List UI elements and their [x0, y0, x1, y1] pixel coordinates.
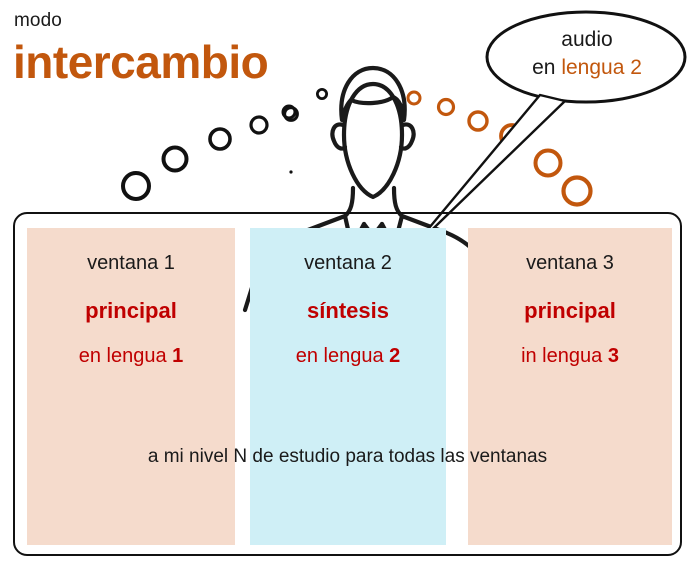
- window-column-2[interactable]: ventana 2 síntesis en lengua 2: [250, 228, 446, 545]
- window-language-prefix-2: en lengua: [296, 345, 389, 367]
- window-role-2: síntesis: [250, 300, 446, 322]
- window-column-1[interactable]: ventana 1 principal en lengua 1: [27, 228, 235, 545]
- window-label-1: ventana 1: [27, 253, 235, 273]
- window-language-2: en lengua 2: [250, 346, 446, 366]
- window-column-3[interactable]: ventana 3 principal in lengua 3: [468, 228, 672, 545]
- black-circles-icon: [123, 106, 295, 199]
- speech-bubble-line-2: en lengua 2: [500, 54, 674, 82]
- window-language-prefix-1: en lengua: [79, 345, 172, 367]
- header-kicker: modo: [14, 11, 62, 30]
- black-circles-small-icon: [285, 89, 327, 120]
- footer-note: a mi nivel N de estudio para todas las v…: [0, 447, 695, 466]
- page-title: intercambio: [13, 39, 268, 85]
- window-role-1: principal: [27, 300, 235, 322]
- orange-circles-icon: [408, 92, 591, 205]
- window-label-2: ventana 2: [250, 253, 446, 273]
- window-language-3: in lengua 3: [468, 346, 672, 366]
- window-label-3: ventana 3: [468, 253, 672, 273]
- window-language-number-2: 2: [389, 345, 400, 367]
- window-language-1: en lengua 1: [27, 346, 235, 366]
- window-language-number-3: 3: [608, 345, 619, 367]
- speech-bubble-line-1: audio: [500, 26, 674, 54]
- speech-bubble-line-2-prefix: en: [532, 56, 561, 79]
- window-role-3: principal: [468, 300, 672, 322]
- speech-bubble-line-2-highlight: lengua 2: [561, 56, 642, 79]
- window-language-number-1: 1: [172, 345, 183, 367]
- speech-bubble-text: audio en lengua 2: [500, 26, 674, 81]
- diagram-canvas: modo intercambio: [0, 0, 695, 571]
- window-language-prefix-3: in lengua: [521, 345, 608, 367]
